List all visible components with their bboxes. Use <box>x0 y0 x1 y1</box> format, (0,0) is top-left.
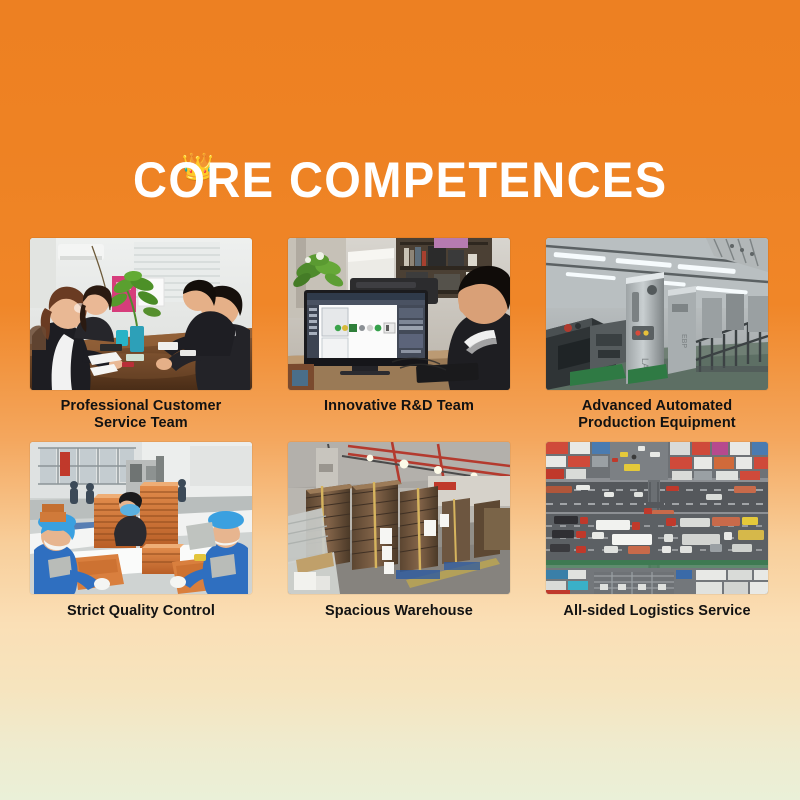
page-title-block: 👑 CORE COMPETENCES <box>0 150 800 210</box>
card-caption: Professional Customer Service Team <box>30 398 252 432</box>
card-caption: Advanced Automated Production Equipment <box>546 398 768 432</box>
card-caption: All-sided Logistics Service <box>546 603 768 620</box>
quality-control-photo <box>30 442 252 594</box>
competence-card-innovative-rd-team[interactable]: Innovative R&D Team <box>288 238 510 432</box>
printing-press-photo: LAND EBP <box>546 238 768 390</box>
warehouse-photo <box>288 442 510 594</box>
competence-grid: Professional Customer Service Team <box>30 238 768 620</box>
meeting-room-photo <box>30 238 252 390</box>
competence-card-all-sided-logistics-service[interactable]: All-sided Logistics Service <box>546 442 768 620</box>
svg-text:EBP: EBP <box>680 334 687 348</box>
card-caption: Spacious Warehouse <box>288 603 510 620</box>
competence-card-advanced-automated-production-equipment[interactable]: LAND EBP <box>546 238 768 432</box>
core-competences-banner: 👑 CORE COMPETENCES <box>0 0 800 800</box>
logistics-aerial-photo <box>546 442 768 594</box>
card-caption: Innovative R&D Team <box>288 398 510 415</box>
card-caption: Strict Quality Control <box>30 603 252 620</box>
page-title: CORE COMPETENCES <box>133 150 667 210</box>
designer-at-computer-photo <box>288 238 510 390</box>
competence-card-strict-quality-control[interactable]: Strict Quality Control <box>30 442 252 620</box>
competence-card-spacious-warehouse[interactable]: Spacious Warehouse <box>288 442 510 620</box>
competence-card-professional-customer-service-team[interactable]: Professional Customer Service Team <box>30 238 252 432</box>
